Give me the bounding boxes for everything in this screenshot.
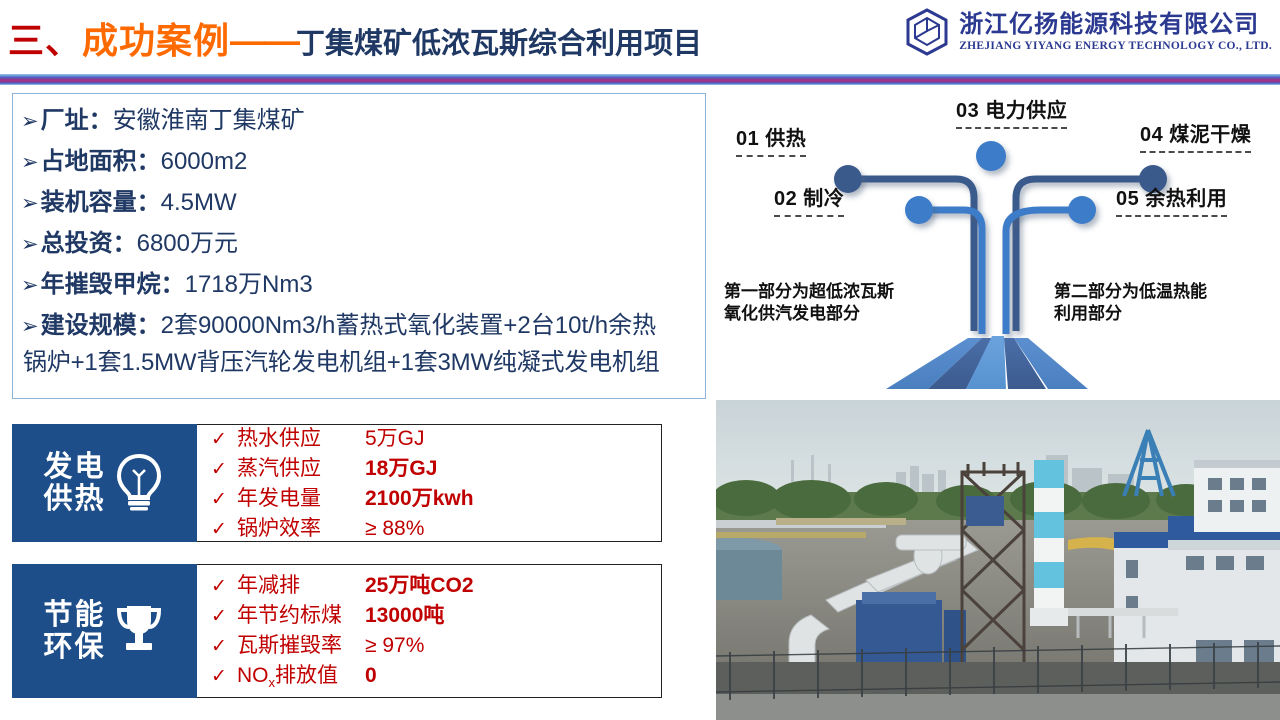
info-label: 建设规模	[41, 305, 137, 340]
bullet-arrow-icon: ➢	[21, 316, 39, 337]
panel-row-name: 瓦斯摧毁率	[237, 631, 365, 661]
info-value: 安徽淮南丁集煤矿	[113, 100, 305, 135]
diagram-note-right-line1: 第二部分为低温热能	[1054, 281, 1207, 303]
slide-header: 三、 成功案例 —— 丁集煤矿低浓瓦斯综合利用项目 浙江亿扬能源科技有限公司 Z…	[0, 0, 1280, 78]
panel-row-value: 5万GJ	[365, 424, 425, 454]
info-row-area: ➢ 占地面积 ： 6000m 2	[21, 141, 697, 176]
panel-tag-power-heat: 发电 供热	[12, 424, 197, 542]
info-row-site: ➢ 厂址 ： 安徽淮南丁集煤矿	[21, 100, 697, 135]
info-separator: ：	[137, 141, 161, 176]
title-number: 三、	[8, 12, 82, 64]
bullet-arrow-icon: ➢	[21, 152, 39, 173]
info-value-tail: /h蓄热式氧化装置+2台10t/h余热	[315, 305, 656, 340]
info-value-sup: 3	[299, 271, 312, 299]
bullet-arrow-icon: ➢	[21, 193, 39, 214]
panel-tag-line2: 供热	[43, 483, 105, 515]
slide-root: 三、 成功案例 —— 丁集煤矿低浓瓦斯综合利用项目 浙江亿扬能源科技有限公司 Z…	[0, 0, 1280, 720]
info-value: 2套90000Nm	[161, 305, 302, 340]
diagram-label-02: 02 制冷	[774, 182, 844, 217]
check-icon: ✓	[211, 574, 237, 601]
node-05	[1068, 196, 1096, 224]
bullet-arrow-icon: ➢	[21, 234, 39, 255]
logo-company-name-en: ZHEJIANG YIYANG ENERGY TECHNOLOGY CO., L…	[959, 40, 1272, 52]
header-gradient-divider	[0, 74, 1280, 85]
energy-distribution-diagram: 01 供热 02 制冷 03 电力供应 04 煤泥干燥 05 余热利用 第一部分…	[716, 86, 1280, 399]
info-label: 总投资	[41, 223, 113, 258]
panel-row-name: 锅炉效率	[237, 514, 365, 544]
check-icon: ✓	[211, 634, 237, 661]
info-separator: ：	[137, 305, 161, 340]
node-02	[905, 196, 933, 224]
panel-row-value: 18万GJ	[365, 454, 437, 484]
panel-row: ✓ 锅炉效率 ≥ 88%	[211, 514, 661, 544]
panel-tag-line2: 环保	[43, 631, 105, 663]
check-icon: ✓	[211, 664, 237, 691]
hexagon-cube-logo-icon	[905, 8, 949, 56]
panel-row-name: 年节约标煤	[237, 601, 365, 631]
panel-row-name: 蒸汽供应	[237, 454, 365, 484]
panel-body-energy-environment: ✓ 年减排 25万吨CO2 ✓ 年节约标煤 13000吨 ✓ 瓦斯摧毁率 ≥ 9…	[197, 564, 662, 698]
panel-row-value: 13000吨	[365, 601, 444, 631]
info-row-investment: ➢ 总投资 ： 6800万元	[21, 223, 697, 258]
diagram-label-05: 05 余热利用	[1116, 182, 1227, 217]
info-row-capacity: ➢ 装机容量 ： 4.5MW	[21, 182, 697, 217]
diagram-note-left-line1: 第一部分为超低浓瓦斯	[724, 281, 894, 303]
feature-panel-power-heat: 发电 供热 ✓ 热水供应 5万GJ ✓ 蒸汽供应	[12, 424, 662, 542]
check-icon: ✓	[211, 457, 237, 484]
plant-photo-graphic	[716, 400, 1280, 720]
title-main: 成功案例	[82, 12, 230, 64]
info-separator: ：	[113, 223, 137, 258]
info-value: 4.5MW	[161, 189, 237, 217]
project-site-photo	[716, 400, 1280, 720]
info-value: 1718万Nm	[185, 264, 300, 299]
info-row-methane: ➢ 年摧毁甲烷 ： 1718万Nm 3	[21, 264, 697, 299]
panel-row-value: 0	[365, 661, 377, 691]
panel-row-value: 25万吨CO2	[365, 571, 474, 601]
panel-row-value: ≥ 97%	[365, 631, 424, 661]
panel-body-power-heat: ✓ 热水供应 5万GJ ✓ 蒸汽供应 18万GJ ✓ 年发电量 2100万kwh…	[197, 424, 662, 542]
info-value: 6000m	[161, 148, 234, 176]
panel-row: ✓ 年发电量 2100万kwh	[211, 484, 661, 514]
chimney	[1030, 460, 1068, 626]
fan-ribbons	[886, 336, 1088, 389]
diagram-label-03: 03 电力供应	[956, 94, 1067, 129]
diagram-note-right-line2: 利用部分	[1054, 303, 1207, 325]
title-subtitle: 丁集煤矿低浓瓦斯综合利用项目	[296, 20, 702, 62]
lightbulb-icon	[112, 452, 166, 514]
check-icon: ✓	[211, 427, 237, 454]
panel-row-name: 年发电量	[237, 484, 365, 514]
page-title: 三、 成功案例 —— 丁集煤矿低浓瓦斯综合利用项目	[8, 12, 702, 64]
diagram-label-01: 01 供热	[736, 122, 806, 157]
panel-row: ✓ 蒸汽供应 18万GJ	[211, 454, 661, 484]
info-label: 厂址	[41, 100, 89, 135]
company-logo: 浙江亿扬能源科技有限公司 ZHEJIANG YIYANG ENERGY TECH…	[905, 8, 1272, 56]
diagram-note-left: 第一部分为超低浓瓦斯 氧化供汽发电部分	[724, 281, 894, 325]
info-row-scale-line2: 锅炉+1套1.5MW背压汽轮发电机组+1套3MW纯凝式发电机组	[23, 342, 697, 377]
panel-row-name: 年减排	[237, 571, 365, 601]
project-info-box: ➢ 厂址 ： 安徽淮南丁集煤矿 ➢ 占地面积 ： 6000m 2 ➢ 装机容量 …	[12, 93, 706, 399]
info-value-sup: 2	[234, 148, 247, 176]
panel-row: ✓ 瓦斯摧毁率 ≥ 97%	[211, 631, 661, 661]
info-value: 6800万元	[137, 223, 238, 258]
diagram-note-right: 第二部分为低温热能 利用部分	[1054, 281, 1207, 325]
panel-row-name: NOx排放值	[237, 661, 365, 693]
bullet-arrow-icon: ➢	[21, 111, 39, 132]
diagram-label-04: 04 煤泥干燥	[1140, 118, 1251, 153]
panel-tag-energy-environment: 节能 环保	[12, 564, 197, 698]
panel-tag-line1: 节能	[43, 599, 105, 631]
info-label: 装机容量	[41, 182, 137, 217]
title-dash: ——	[230, 20, 298, 62]
info-label: 年摧毁甲烷	[41, 264, 161, 299]
feature-panel-energy-environment: 节能 环保 ✓ 年减排 25万吨CO2 ✓ 年节约标煤	[12, 564, 662, 698]
diagram-note-left-line2: 氧化供汽发电部分	[724, 303, 894, 325]
info-row-scale: ➢ 建设规模 ： 2套90000Nm 3 /h蓄热式氧化装置+2台10t/h余热	[21, 305, 697, 340]
info-value-sup: 3	[302, 312, 315, 340]
info-separator: ：	[161, 264, 185, 299]
panel-row: ✓ 年减排 25万吨CO2	[211, 571, 661, 601]
node-03	[976, 141, 1006, 171]
bullet-arrow-icon: ➢	[21, 275, 39, 296]
check-icon: ✓	[211, 604, 237, 631]
info-separator: ：	[89, 100, 113, 135]
info-label: 占地面积	[41, 141, 137, 176]
check-icon: ✓	[211, 517, 237, 544]
panel-row-value: ≥ 88%	[365, 514, 424, 544]
panel-row-name: 热水供应	[237, 424, 365, 454]
panel-row: ✓ 年节约标煤 13000吨	[211, 601, 661, 631]
panel-tag-line1: 发电	[43, 451, 105, 483]
panel-row: ✓ NOx排放值 0	[211, 661, 661, 693]
logo-company-name-cn: 浙江亿扬能源科技有限公司	[959, 12, 1272, 37]
check-icon: ✓	[211, 487, 237, 514]
panel-row: ✓ 热水供应 5万GJ	[211, 424, 661, 454]
info-separator: ：	[137, 182, 161, 217]
panel-row-value: 2100万kwh	[365, 484, 474, 514]
trophy-icon	[112, 600, 166, 662]
